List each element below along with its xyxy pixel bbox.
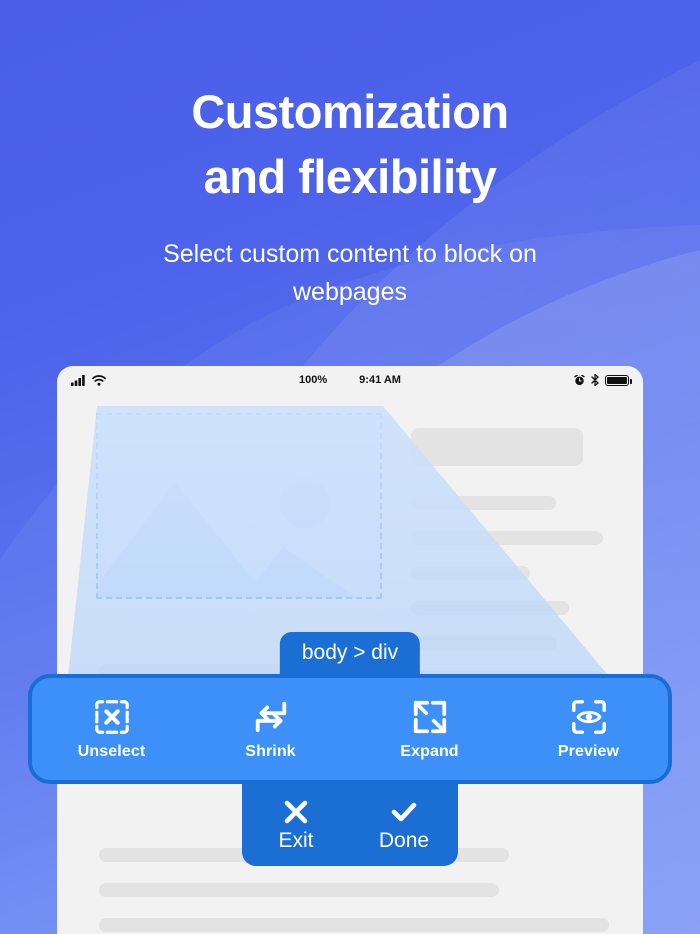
clock-label: 9:41 AM bbox=[359, 374, 401, 386]
content-line bbox=[411, 601, 569, 615]
battery-full-icon bbox=[605, 375, 629, 386]
done-label: Done bbox=[379, 829, 429, 853]
expand-button[interactable]: Expand bbox=[350, 698, 509, 761]
checkmark-icon bbox=[389, 797, 419, 827]
selection-outline[interactable] bbox=[96, 413, 382, 599]
done-button[interactable]: Done bbox=[350, 797, 458, 853]
alarm-icon bbox=[574, 375, 585, 386]
app-screenshot: Customization and flexibility Select cus… bbox=[0, 0, 700, 934]
unselect-icon bbox=[93, 698, 131, 736]
content-line bbox=[411, 636, 557, 650]
hero-subtitle: Select custom content to block on webpag… bbox=[0, 236, 700, 311]
hero-title: Customization and flexibility bbox=[0, 80, 700, 210]
preview-label: Preview bbox=[558, 743, 619, 761]
content-line bbox=[411, 496, 556, 510]
confirm-bar: Exit Done bbox=[242, 784, 458, 866]
expand-icon bbox=[411, 698, 449, 736]
close-x-icon bbox=[281, 797, 311, 827]
wifi-icon bbox=[92, 375, 106, 386]
unselect-label: Unselect bbox=[78, 743, 146, 761]
preview-button[interactable]: Preview bbox=[509, 698, 668, 761]
exit-label: Exit bbox=[278, 829, 313, 853]
preview-icon bbox=[570, 698, 608, 736]
battery-percent-label: 100% bbox=[299, 374, 327, 386]
expand-label: Expand bbox=[400, 743, 458, 761]
bluetooth-icon bbox=[591, 374, 599, 386]
status-bar: 100% 9:41 AM bbox=[57, 366, 643, 394]
content-block bbox=[411, 428, 583, 466]
exit-button[interactable]: Exit bbox=[242, 797, 350, 853]
selection-toolbar: Unselect Shrink bbox=[28, 674, 672, 784]
shrink-label: Shrink bbox=[245, 743, 295, 761]
content-line bbox=[99, 883, 499, 897]
content-line bbox=[99, 918, 609, 932]
shrink-icon bbox=[252, 698, 290, 736]
content-line bbox=[411, 566, 530, 580]
shrink-button[interactable]: Shrink bbox=[191, 698, 350, 761]
unselect-button[interactable]: Unselect bbox=[32, 698, 191, 761]
content-line bbox=[411, 531, 603, 545]
selector-path-label: body > div bbox=[302, 641, 398, 664]
cellular-signal-icon bbox=[71, 375, 87, 386]
